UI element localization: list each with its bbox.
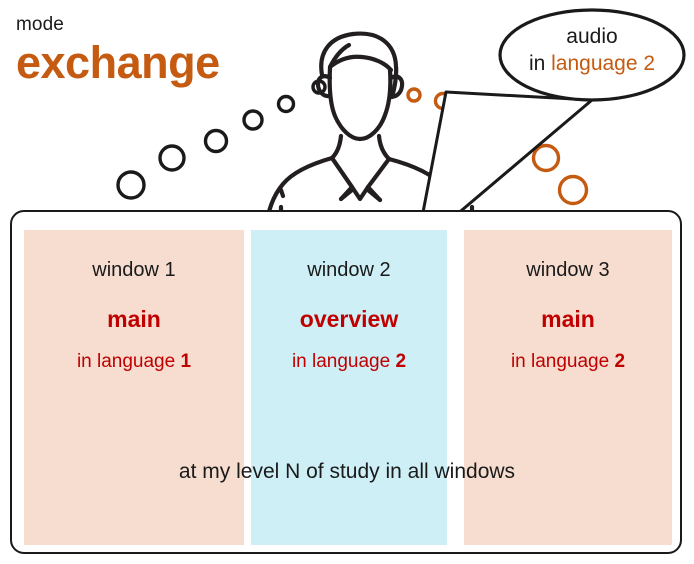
window-2-language-prefix: in language [292, 351, 396, 372]
window-3-kind: main [464, 308, 672, 331]
level-footnote: at my level N of study in all windows [0, 460, 694, 484]
bubble-line2-accent: language 2 [551, 52, 655, 75]
window-1-title: window 1 [24, 260, 244, 280]
window-3-title: window 3 [464, 260, 672, 280]
audio-speech-bubble-text: audio in language 2 [500, 24, 684, 78]
windows-panel: window 1 main in language 1 window 2 ove… [10, 210, 682, 554]
window-3-language: in language 2 [464, 352, 672, 371]
input-bubbles-black-icon [118, 81, 325, 198]
window-column-1[interactable]: window 1 main in language 1 [24, 230, 244, 545]
output-bubbles-orange-icon [408, 89, 587, 204]
window-1-language-number: 1 [180, 351, 191, 372]
mode-title: exchange [16, 40, 220, 85]
windows-columns: window 1 main in language 1 window 2 ove… [12, 212, 684, 556]
window-1-language: in language 1 [24, 352, 244, 371]
bubble-line2-prefix: in [529, 52, 551, 75]
window-column-3[interactable]: window 3 main in language 2 [464, 230, 672, 545]
window-2-title: window 2 [251, 260, 447, 280]
bubble-line-language: in language 2 [500, 51, 684, 78]
window-column-2[interactable]: window 2 overview in language 2 [251, 230, 447, 545]
bubble-line-audio: audio [500, 24, 684, 51]
window-2-language-number: 2 [395, 351, 406, 372]
window-2-language: in language 2 [251, 352, 447, 371]
window-2-kind: overview [251, 308, 447, 331]
window-1-kind: main [24, 308, 244, 331]
window-3-language-number: 2 [614, 351, 625, 372]
slide-canvas: mode exchange [0, 0, 694, 564]
mode-label: mode [16, 14, 64, 36]
window-3-language-prefix: in language [511, 351, 615, 372]
window-1-language-prefix: in language [77, 351, 181, 372]
